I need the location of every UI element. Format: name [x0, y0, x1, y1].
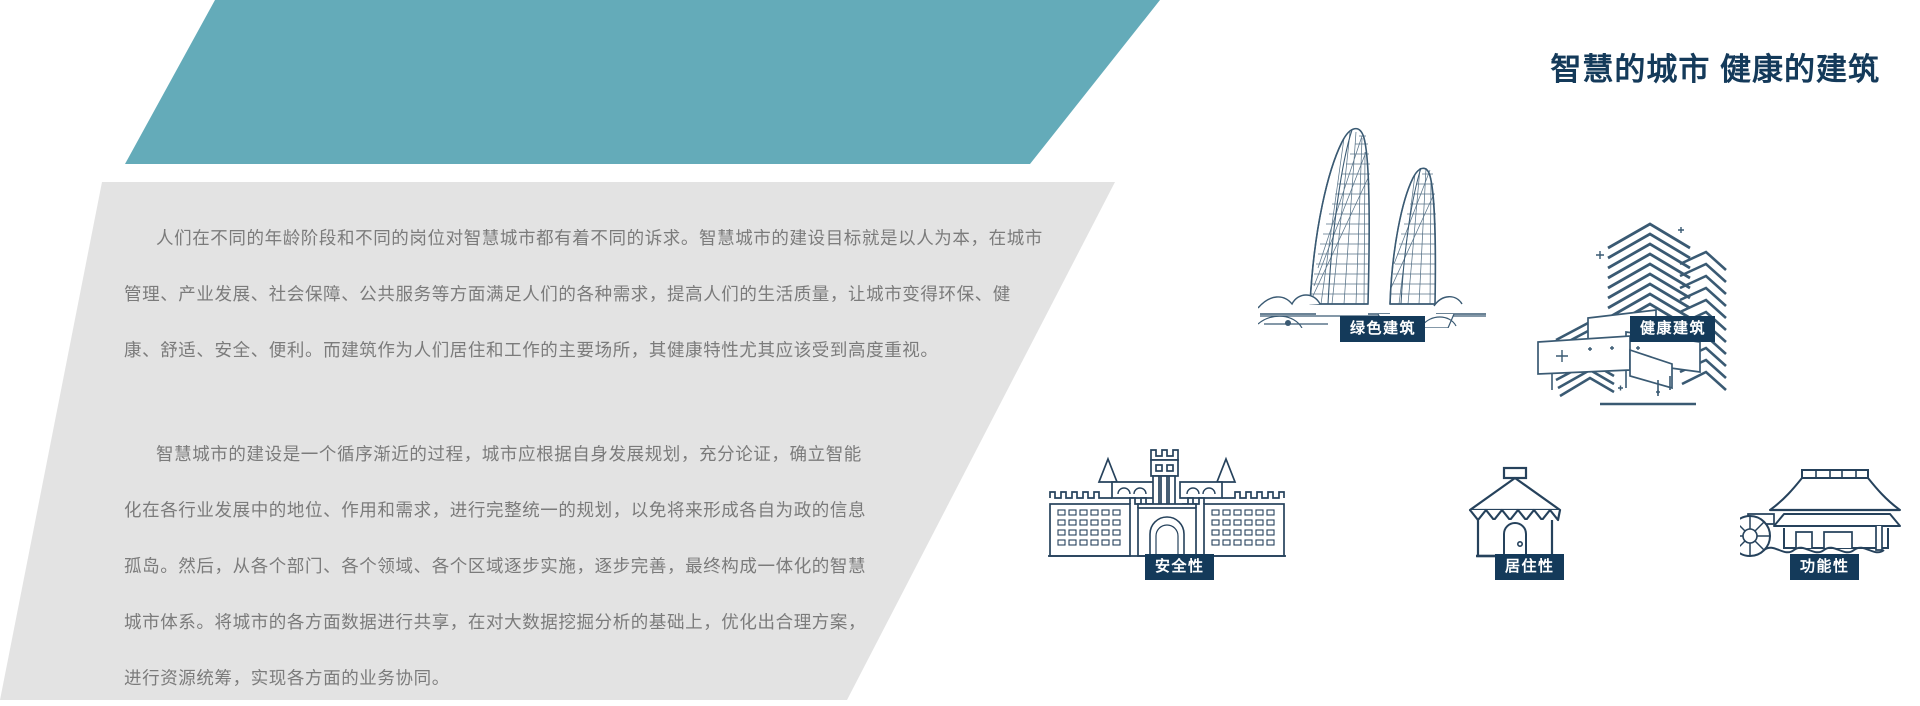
house-awning-icon [1460, 464, 1570, 564]
paragraph-line: 孤岛。然后，从各个部门、各个领域、各个区域逐步实施，逐步完善，最终构成一体化的智… [124, 538, 1044, 594]
pavilion-waterwheel-icon [1740, 466, 1910, 562]
slogan-heading: 智慧的城市 健康的建筑 [1550, 44, 1880, 89]
paragraph-line: 人们在不同的年龄阶段和不同的岗位对智慧城市都有着不同的诉求。智慧城市的建设目标就… [124, 210, 1044, 266]
paragraph-line: 化在各行业发展中的地位、作用和需求，进行完整统一的规划，以免将来形成各自为政的信… [124, 482, 1044, 538]
body-text-container: 人们在不同的年龄阶段和不同的岗位对智慧城市都有着不同的诉求。智慧城市的建设目标就… [0, 182, 1140, 700]
illustration-label-green-building: 绿色建筑 [1340, 316, 1425, 342]
title-banner [0, 0, 1160, 164]
illustration-label-safety: 安全性 [1145, 554, 1214, 580]
twin-towers-icon [1258, 108, 1488, 328]
paragraph-two: 智慧城市的建设是一个循序渐近的过程，城市应根据自身发展规划，充分论证，确立智能 … [124, 426, 1044, 706]
illustration-label-function: 功能性 [1790, 554, 1859, 580]
paragraph-line: 进行资源统筹，实现各方面的业务协同。 [124, 650, 1044, 706]
illustration-group: 绿色建筑 [1040, 96, 1920, 700]
hospital-complex-icon [1530, 218, 1760, 408]
paragraph-one: 人们在不同的年龄阶段和不同的岗位对智慧城市都有着不同的诉求。智慧城市的建设目标就… [124, 210, 1044, 378]
illustration-label-livability: 居住性 [1495, 554, 1564, 580]
paragraph-line: 城市体系。将城市的各方面数据进行共享，在对大数据挖掘分析的基础上，优化出合理方案… [124, 594, 1044, 650]
castle-icon [1046, 446, 1288, 564]
illustration-label-health-building: 健康建筑 [1630, 316, 1715, 342]
paragraph-line: 管理、产业发展、社会保障、公共服务等方面满足人们的各种需求，提高人们的生活质量，… [124, 266, 1044, 322]
paragraph-line: 智慧城市的建设是一个循序渐近的过程，城市应根据自身发展规划，充分论证，确立智能 [124, 426, 1044, 482]
paragraph-line: 康、舒适、安全、便利。而建筑作为人们居住和工作的主要场所，其健康特性尤其应该受到… [124, 322, 1044, 378]
